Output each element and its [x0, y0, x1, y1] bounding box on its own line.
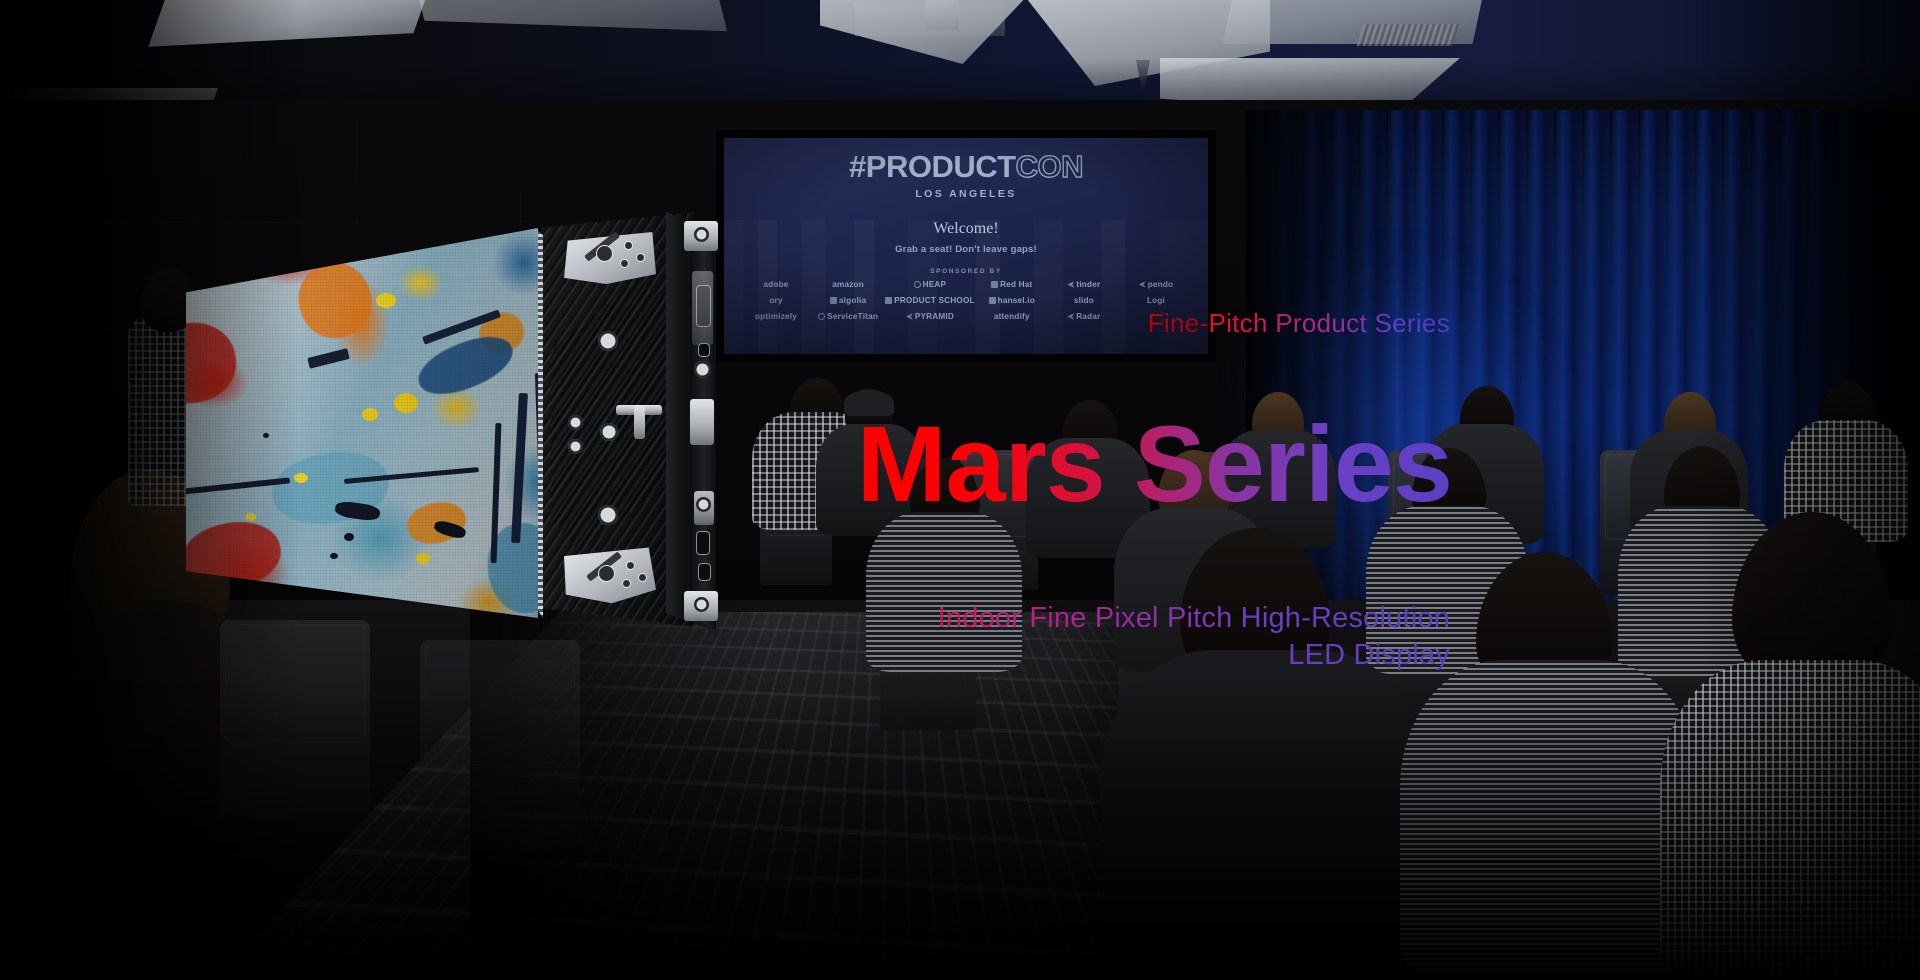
mounting-screw [598, 331, 618, 351]
vignette-bottom [0, 680, 1920, 980]
ceiling-vent [1356, 24, 1459, 46]
mounting-screw [598, 505, 618, 525]
bracket-hole [636, 253, 645, 262]
mounting-screw [694, 227, 709, 242]
rail-plate [692, 271, 713, 345]
bracket-hole [620, 259, 629, 268]
latch-handle [690, 399, 714, 445]
bracket-hole [624, 241, 633, 250]
bracket-hole [622, 579, 631, 588]
cable-port [696, 531, 710, 555]
hero-subline-line-2: LED Display [1288, 639, 1450, 671]
projection-screen: #PRODUCTCON LOS ANGELES Welcome! Grab a … [724, 138, 1208, 354]
bracket-hole [638, 573, 647, 582]
mounting-screw [694, 361, 711, 378]
hero-subline: Indoor Fine Pixel Pitch High-Resolution … [690, 600, 1450, 674]
mounting-screw [568, 415, 583, 430]
mounting-screw [696, 497, 711, 512]
cable-port [698, 563, 711, 581]
bracket-hole [596, 245, 613, 262]
projection-screen-frame: #PRODUCTCON LOS ANGELES Welcome! Grab a … [716, 130, 1216, 362]
hero-subline-line-1: Indoor Fine Pixel Pitch High-Resolution [938, 602, 1450, 634]
mounting-screw [568, 439, 583, 454]
hero-headline: Mars Series [857, 410, 1452, 518]
ceiling-panel [925, 0, 959, 30]
vignette-right [1700, 0, 1920, 980]
bracket-hole [626, 561, 635, 570]
bracket-hole [598, 565, 615, 582]
alignment-post [634, 405, 645, 439]
hero-banner: #PRODUCTCON LOS ANGELES Welcome! Grab a … [0, 0, 1920, 980]
cable-port [698, 343, 710, 357]
mounting-screw [600, 423, 618, 441]
screen-vignette [724, 138, 1208, 354]
